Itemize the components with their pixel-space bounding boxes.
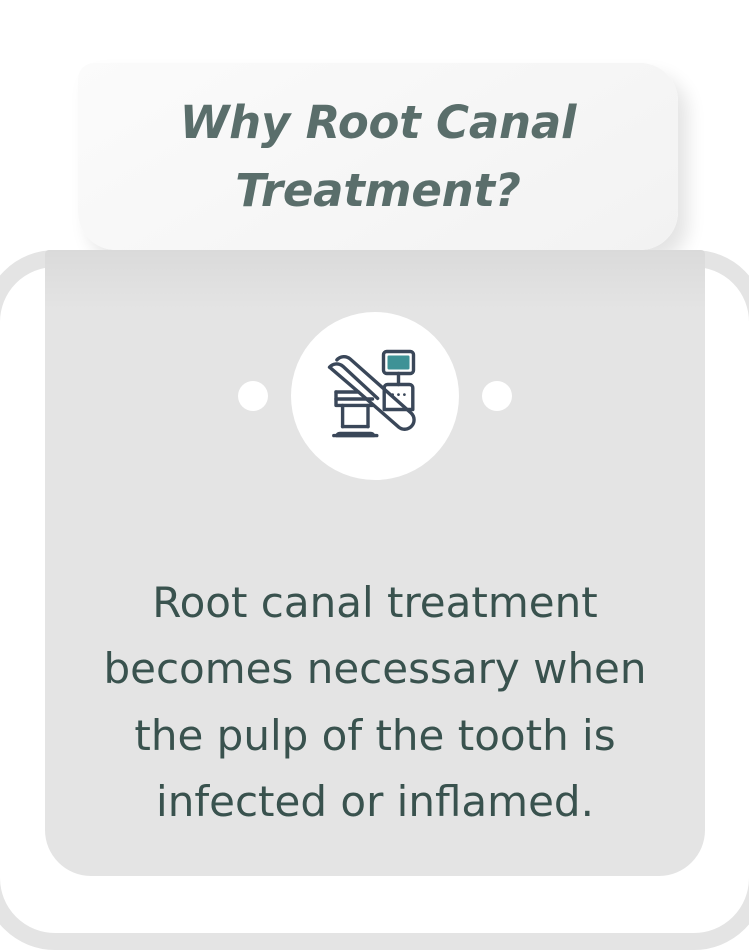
card-top-shading (45, 250, 705, 310)
left-decorative-dot-icon (238, 381, 268, 411)
icon-circle-badge (291, 312, 459, 480)
dental-chair-icon (315, 336, 435, 456)
icon-row (45, 306, 705, 486)
card-body-text: Root canal treatment becomes necessary w… (79, 570, 671, 835)
card-title-pill: Why Root Canal Treatment? (78, 63, 678, 250)
right-decorative-dot-icon (482, 381, 512, 411)
page-title: Why Root Canal Treatment? (112, 89, 644, 223)
info-card-stage: Why Root Canal Treatment? (0, 0, 749, 930)
content-card: Root canal treatment becomes necessary w… (45, 250, 705, 876)
